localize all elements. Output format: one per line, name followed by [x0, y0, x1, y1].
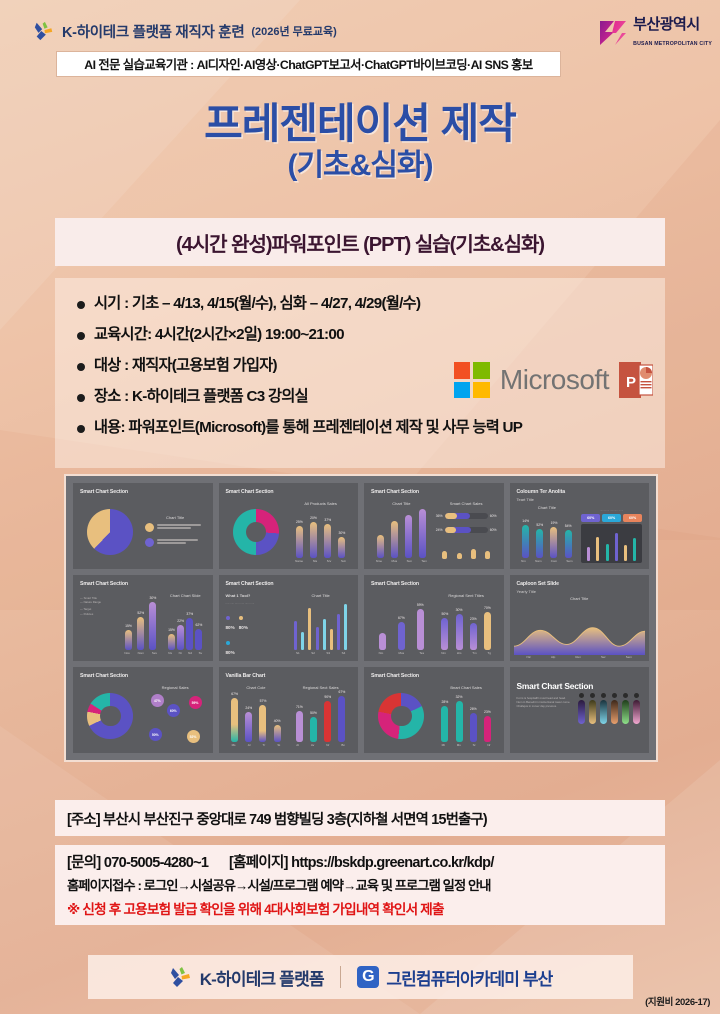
axis-labels: NosNomSev [120, 651, 161, 655]
slide-title: Smart Chart Section [517, 681, 643, 691]
slide-title: Coloumn Ter Anolita [517, 489, 643, 496]
axis-labels: S1S2S3S4 [290, 651, 351, 655]
slide-thumbnail: Vanilla Bar Chart Chart Cole 67% 24% 57%… [219, 667, 359, 753]
bullet-dot-icon [77, 301, 85, 309]
capsule-item [611, 693, 618, 724]
slide-title: Vanilla Bar Chart [226, 673, 352, 680]
chart-title: Chart Title [517, 596, 643, 601]
bullet-dot-icon [77, 363, 85, 371]
busan-city-kr: 부산광역시 [633, 16, 700, 33]
slide-thumbnail: Caploon Set Slide Yearly Title Chart Tit… [510, 575, 650, 661]
list-item: 시기 : 기초 – 4/13, 4/15(월/수), 심화 – 4/27, 4/… [77, 294, 665, 313]
poster-header: K-하이테크 플랫폼 재직자 훈련 (2026년 무료교육) [0, 14, 720, 54]
slide-thumbnail: Coloumn Ter Anolita Teart Title Chart Ti… [510, 483, 650, 569]
bar-chart: 28% 32% 26% 23% MtMsSrNr [436, 690, 497, 747]
bar-chart: 67% 24% 57% 40% MsAlTrSt [226, 690, 287, 747]
slide-thumbnail: Smart Chart Section Fot is is hospitalfi… [510, 667, 650, 753]
homepage-url[interactable]: https://bskdp.greenart.co.kr/kdp/ [291, 855, 494, 871]
progress-value: 60% [490, 514, 497, 518]
busan-city-logo: 부산광역시 BUSAN METROPOLITAN CITY [598, 17, 712, 49]
axis-labels: NmeMusSunTem [371, 559, 432, 563]
footer-logos: K-하이테크 플랫폼 G 그린컴퓨터아카데미 부산 [88, 955, 633, 999]
slide-thumbnail: Smart Chart Section Regional Sales 47% 5… [73, 667, 213, 753]
ai-institution-bar: AI 전문 실습교육기관 : AI디자인·AI영상·ChatGPT보고서·Cha… [56, 51, 561, 77]
busan-city-text: 부산광역시 BUSAN METROPOLITAN CITY [633, 17, 712, 49]
k-hightech-star-icon [169, 965, 193, 989]
subsidy-code: (지원비 2026-17) [645, 994, 710, 1008]
slide-thumbnail: Smart Chart Section What 1 Tool? ..... .… [219, 575, 359, 661]
node-bubble: 47% [151, 694, 164, 707]
legend-swatch [145, 538, 154, 547]
chart-title: Smart Chart Sales [436, 501, 497, 506]
progress-value: 36% [436, 514, 443, 518]
axis-labels: MtMsSrNr [436, 743, 497, 747]
axis-labels: NmMosTes [371, 651, 432, 655]
bullet-text: 시기 : 기초 – 4/13, 4/15(월/수), 심화 – 4/27, 4/… [94, 294, 420, 313]
bar-chart: 15% 22% 37% 62% NsNtNdSv [165, 598, 206, 655]
k-hightech-star-icon [33, 20, 55, 42]
donut-chart [378, 693, 424, 739]
bullet-text: 대상 : 재직자(고용보험 가입자) [94, 356, 277, 375]
area-chart [514, 625, 646, 655]
course-info-panel: 시기 : 기초 – 4/13, 4/15(월/수), 심화 – 4/27, 4/… [55, 278, 665, 468]
bar-chart [436, 537, 497, 563]
axis-labels: NmNamComSem [517, 559, 578, 563]
capsule-item [589, 693, 596, 724]
homepage-label: [홈페이지] [229, 855, 288, 871]
axis-labels: NsNtNdSv [165, 651, 206, 655]
slide-body-text: Fot is is hospitalfir must head and head… [517, 696, 573, 709]
bar-chart: 67% 59% NmMosTes [371, 593, 432, 655]
axis-labels: MsAlTrSt [226, 743, 287, 747]
slide-title: Smart Chart Section [226, 581, 352, 588]
microsoft-branding: Microsoft P [454, 362, 653, 398]
application-process: 홈페이지접수 : 로그인→시설공유→시설/프로그램 예약→교육 및 프로그램 일… [67, 875, 665, 894]
slide-subtitle: Teart Title [517, 497, 643, 502]
axis-labels: AlAvNrBn [290, 743, 351, 747]
bullet-dot-icon [77, 425, 85, 433]
contact-panel: [문의] 070-5005-4280~1 [홈페이지] https://bskd… [55, 845, 665, 925]
slide-title: Smart Chart Section [226, 489, 352, 496]
bullet-dot-icon [77, 394, 85, 402]
footer-left-text: K-하이테크 플랫폼 [200, 965, 324, 990]
green-academy-g-icon: G [357, 966, 379, 988]
pie-chart [87, 509, 133, 555]
bar-chart: 15% 52% 30% NosNomSev [120, 593, 161, 655]
axis-labels: NicAlpRenSerSem [517, 655, 643, 659]
busan-city-logo-icon [598, 19, 628, 47]
list-item: 교육시간: 4시간(2시간×2일) 19:00~21:00 [77, 325, 665, 344]
slide-thumbnail: Smart Chart Section — Smart Title— Natur… [73, 575, 213, 661]
footer-right-text: 그린컴퓨터아카데미 부산 [386, 965, 552, 990]
progress-value: 60% [490, 528, 497, 532]
slide-deck-preview: Smart Chart Section Chart Title Smart Ch… [64, 474, 658, 762]
bullet-text: 장소 : K-하이테크 플랫폼 C3 강의실 [94, 387, 308, 406]
poster-root: K-하이테크 플랫폼 재직자 훈련 (2026년 무료교육) [0, 0, 720, 1014]
page-title: 프레젠테이션 제작 (기초&심화) [0, 100, 720, 184]
subtitle-panel: (4시간 완성)파워포인트 (PPT) 실습(기초&심화) [55, 218, 665, 266]
phone-number: 070-5005-4280~1 [104, 855, 208, 871]
capsule-item [578, 693, 585, 724]
bar-chart: 71% 50% 90% 67% AlAvNrBn [290, 690, 351, 747]
bar-chart: 14% 52% 19% 54% NmNamComSem [517, 510, 578, 563]
microsoft-squares-icon [454, 362, 490, 398]
capsule-item [622, 693, 629, 724]
capsule-item [600, 693, 607, 724]
slide-title: Smart Chart Section [80, 581, 206, 588]
bar-chart: 25% 20% 37% 30% NameNisSrvSvn [290, 506, 351, 563]
slide-thumbnail: Smart Chart Section Bnart Chart Sales 28… [364, 667, 504, 753]
stat-chip: 60% [602, 514, 621, 522]
slide-subtitle: What 1 Tool? [226, 593, 287, 598]
phone-label: [문의] [67, 855, 101, 871]
bullet-dot-icon [77, 332, 85, 340]
slide-thumbnail: Smart Chart Section Chart Title [73, 483, 213, 569]
axis-labels: NameNisSrvSvn [290, 559, 351, 563]
axis-labels: NmHmTmTg [436, 651, 497, 655]
chart-title: Chart Title [145, 515, 206, 520]
node-bubble: 59% [189, 696, 202, 709]
powerpoint-icon: P [619, 362, 653, 398]
bullet-text: 내용: 파워포인트(Microsoft)를 통해 프레젠테이션 제작 및 사무 … [94, 418, 522, 437]
slide-title: Smart Chart Section [371, 581, 497, 588]
header-org-title: K-하이테크 플랫폼 재직자 훈련 [62, 21, 244, 42]
bar-chart: S1S2S3S4 [290, 598, 351, 655]
address-panel: [주소] 부산시 부산진구 중앙대로 749 범향빌딩 3층(지하철 서면역 1… [55, 800, 665, 836]
footer-divider [340, 966, 342, 988]
subtitle-text: (4시간 완성)파워포인트 (PPT) 실습(기초&심화) [176, 228, 544, 257]
slide-title: Smart Chart Section [80, 489, 206, 496]
stat-chip: 60% [623, 514, 642, 522]
donut-chart [87, 693, 133, 739]
capsule-item [633, 693, 640, 724]
legend-lines [157, 539, 206, 545]
notice-text: ※ 신청 후 고용보험 발급 확인을 위해 4대사회보험 가입내역 확인서 제출 [67, 898, 665, 918]
footer-k-hightech: K-하이테크 플랫폼 [169, 965, 324, 990]
slide-title: Smart Chart Section [371, 489, 497, 496]
legend-lines [157, 524, 206, 530]
progress-value: 24% [436, 528, 443, 532]
slide-thumbnail: Smart Chart Section All Products Sales 2… [219, 483, 359, 569]
node-bubble: 52% [187, 730, 200, 743]
node-bubble: 60% [167, 704, 180, 717]
slide-thumbnail: Smart Chart Section Chart Title NmeMusSu… [364, 483, 504, 569]
slide-title: Caploon Set Slide [517, 581, 643, 588]
bullet-text: 교육시간: 4시간(2시간×2일) 19:00~21:00 [94, 325, 344, 344]
progress-bar [445, 513, 488, 519]
slide-title: Smart Chart Section [371, 673, 497, 680]
progress-bar [445, 527, 488, 533]
slide-subtitle: Yearly Title [517, 589, 643, 594]
svg-text:P: P [626, 374, 636, 391]
stat-chip: 60% [581, 514, 600, 522]
header-org-sub: (2026년 무료교육) [251, 23, 336, 39]
busan-city-en: BUSAN METROPOLITAN CITY [633, 41, 712, 47]
address-text: [주소] 부산시 부산진구 중앙대로 749 범향빌딩 3층(지하철 서면역 1… [67, 808, 487, 829]
bar-chart: 50% 30% 23% 70% NmHmTmTg [436, 598, 497, 655]
title-line-2: (기초&심화) [0, 149, 720, 184]
donut-chart [233, 509, 279, 555]
microsoft-wordmark: Microsoft [500, 364, 609, 396]
title-line-1: 프레젠테이션 제작 [0, 100, 720, 147]
bar-chart: NmeMusSunTem [371, 506, 432, 563]
contact-row-phone: [문의] 070-5005-4280~1 [홈페이지] https://bskd… [67, 851, 665, 872]
k-hightech-logo: K-하이테크 플랫폼 재직자 훈련 (2026년 무료교육) [33, 20, 337, 42]
footer-green-academy: G 그린컴퓨터아카데미 부산 [357, 965, 552, 990]
list-item: 내용: 파워포인트(Microsoft)를 통해 프레젠테이션 제작 및 사무 … [77, 418, 665, 437]
legend-swatch [145, 523, 154, 532]
node-bubble: 50% [149, 728, 162, 741]
slide-title: Smart Chart Section [80, 673, 206, 680]
slide-thumbnail: Smart Chart Section 67% 59% NmMosTes Reg… [364, 575, 504, 661]
ai-institution-text: AI 전문 실습교육기관 : AI디자인·AI영상·ChatGPT보고서·Cha… [84, 55, 532, 73]
